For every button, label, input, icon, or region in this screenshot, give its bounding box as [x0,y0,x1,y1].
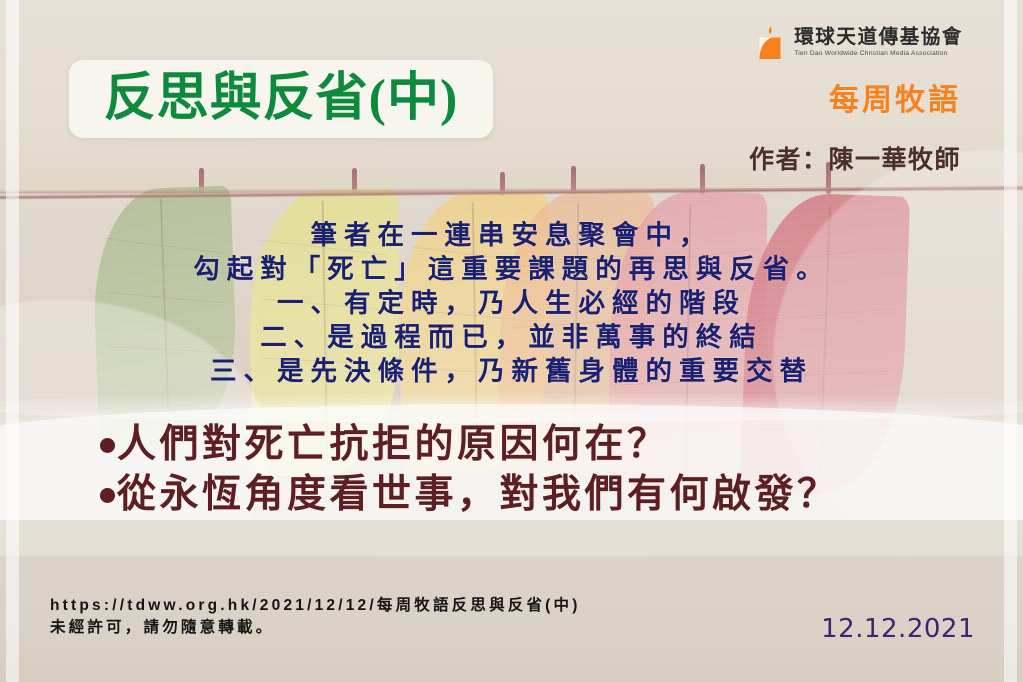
body-line: 一、有定時，乃人生必經的階段 [0,286,1023,320]
source-url[interactable]: https://tdww.org.hk/2021/12/12/每周牧語反思與反省… [50,595,581,617]
org-name-cn: 環球天道傳基協會 [794,28,963,48]
bullet-icon [100,488,115,503]
copyright-notice: 未經許可，請勿隨意轉載。 [50,617,581,639]
question-text: 從永恆角度看世事，對我們有何啟發？ [117,470,840,520]
publish-date: 12.12.2021 [821,614,975,644]
body-line: 勾起對「死亡」這重要課題的再思與反省。 [0,252,1023,286]
series-label: 每周牧語 [829,75,961,119]
slide-canvas: 環球天道傳基協會 Tien Dao Worldwide Christian Me… [0,0,1023,682]
page-title: 反思與反省(中) [104,73,459,125]
candle-flame-logo-icon [755,26,785,60]
organization-logo-block: 環球天道傳基協會 Tien Dao Worldwide Christian Me… [755,26,963,60]
question-text: 人們對死亡抗拒的原因何在？ [117,420,670,470]
body-line: 三、是先決條件，乃新舊身體的重要交替 [0,354,1023,388]
organization-names: 環球天道傳基協會 Tien Dao Worldwide Christian Me… [794,28,963,58]
title-plate: 反思與反省(中) [69,60,493,138]
question-item: 人們對死亡抗拒的原因何在？ [100,420,840,470]
questions-block: 人們對死亡抗拒的原因何在？ 從永恆角度看世事，對我們有何啟發？ [100,420,840,520]
body-text-block: 筆者在一連串安息聚會中， 勾起對「死亡」這重要課題的再思與反省。 一、有定時，乃… [0,218,1023,388]
footer-block: https://tdww.org.hk/2021/12/12/每周牧語反思與反省… [50,595,581,639]
bullet-icon [100,438,115,453]
org-name-en: Tien Dao Worldwide Christian Media Assoc… [794,51,963,58]
body-line: 二、是過程而已，並非萬事的終結 [0,320,1023,354]
author-byline: 作者：陳一華牧師 [749,140,961,176]
body-line: 筆者在一連串安息聚會中， [0,218,1023,252]
question-item: 從永恆角度看世事，對我們有何啟發？ [100,470,840,520]
